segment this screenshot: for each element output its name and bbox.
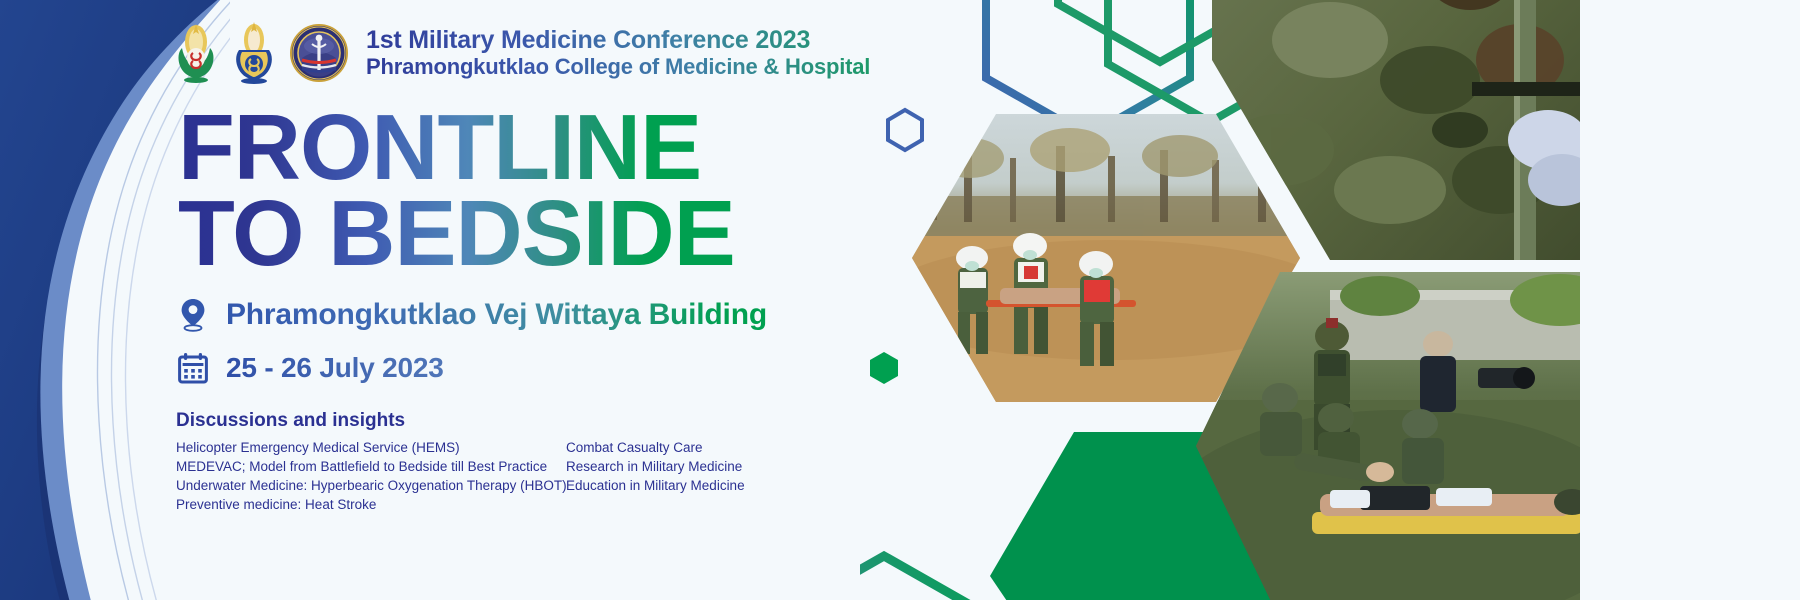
discussions-right-column: Combat Casualty Care Research in Militar… (566, 438, 745, 515)
list-item: MEDEVAC; Model from Battlefield to Bedsi… (176, 457, 566, 476)
headline-line-2: TO BEDSIDE (178, 190, 735, 276)
discussions-title: Discussions and insights (176, 410, 796, 432)
discussions-section: Discussions and insights Helicopter Emer… (176, 410, 796, 515)
location-pin-icon (176, 298, 210, 332)
conference-banner: 1st Military Medicine Conference 2023 Ph… (0, 0, 1800, 600)
list-item: Education in Military Medicine (566, 476, 745, 495)
date-row: 25 - 26 July 2023 (176, 352, 444, 384)
header-text-block: 1st Military Medicine Conference 2023 Ph… (366, 26, 870, 80)
royal-thai-army-medical-crest (172, 22, 220, 84)
discussions-columns: Helicopter Emergency Medical Service (HE… (176, 438, 796, 515)
list-item: Helicopter Emergency Medical Service (HE… (176, 438, 566, 457)
conference-subtitle: Phramongkutklao College of Medicine & Ho… (366, 55, 870, 80)
conference-seal (290, 24, 348, 82)
discussions-left-column: Helicopter Emergency Medical Service (HE… (176, 438, 566, 515)
list-item: Research in Military Medicine (566, 457, 745, 476)
banner-content: 1st Military Medicine Conference 2023 Ph… (0, 0, 900, 600)
list-item: Combat Casualty Care (566, 438, 745, 457)
list-item: Preventive medicine: Heat Stroke (176, 495, 566, 514)
venue-row: Phramongkutklao Vej Wittaya Building (176, 298, 767, 332)
list-item: Underwater Medicine: Hyperbearic Oxygena… (176, 476, 566, 495)
phramongkutklao-crest (230, 22, 278, 84)
date-label: 25 - 26 July 2023 (226, 352, 444, 384)
venue-label: Phramongkutklao Vej Wittaya Building (226, 298, 767, 332)
conference-title: 1st Military Medicine Conference 2023 (366, 26, 870, 54)
calendar-icon (176, 352, 210, 384)
header-row: 1st Military Medicine Conference 2023 Ph… (172, 22, 870, 84)
page-title: FRONTLINE TO BEDSIDE (178, 104, 735, 277)
right-decorative-graphics (860, 0, 1800, 600)
